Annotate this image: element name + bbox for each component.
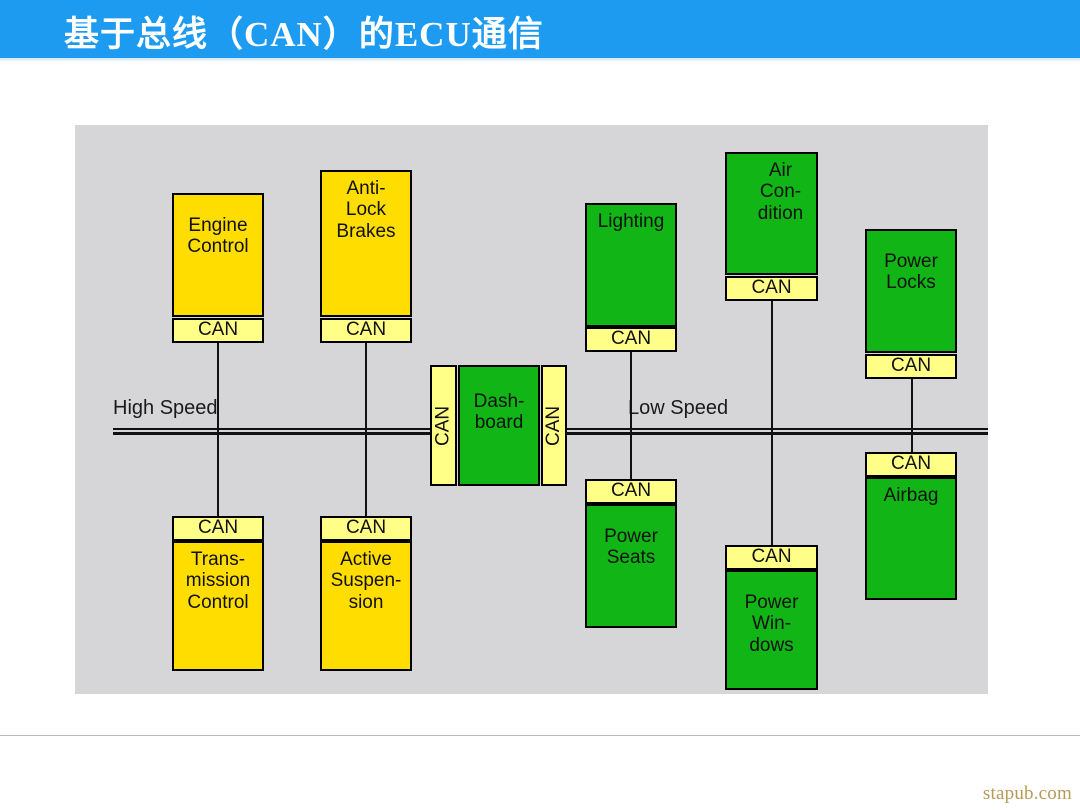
stub-airbag <box>911 430 913 452</box>
node-active-suspension-label: Active Suspen- sion <box>322 543 410 613</box>
node-power-windows-label: Power Win- dows <box>727 572 816 656</box>
node-air-condition-label: Air Con- dition <box>727 154 816 224</box>
can-connector-air-condition[interactable]: CAN <box>725 276 818 301</box>
stub-lighting <box>630 352 632 428</box>
can-connector-anti-lock-brakes[interactable]: CAN <box>320 318 412 343</box>
high-speed-bus-line <box>113 426 435 435</box>
stub-power-locks <box>911 379 913 428</box>
high-speed-bus-label: High Speed <box>113 397 218 420</box>
node-airbag-label: Airbag <box>867 479 955 506</box>
stub-anti-lock-brakes <box>365 343 367 428</box>
node-lighting[interactable]: Lighting <box>585 203 677 327</box>
can-connector-dashboard-right[interactable]: CAN <box>541 365 567 486</box>
node-airbag[interactable]: Airbag <box>865 477 957 600</box>
can-connector-dashboard-left[interactable]: CAN <box>430 365 457 486</box>
low-speed-bus-label: Low Speed <box>628 397 728 420</box>
stub-air-condition <box>771 301 773 428</box>
node-power-locks[interactable]: Power Locks <box>865 229 957 353</box>
bus-inner-gap <box>113 430 435 432</box>
page-title: 基于总线（CAN）的ECU通信 <box>64 6 544 57</box>
footer-divider <box>0 735 1080 736</box>
node-transmission-control-label: Trans- mission Control <box>174 543 262 613</box>
node-power-seats-label: Power Seats <box>587 506 675 569</box>
stub-power-windows <box>771 430 773 545</box>
title-bar: 基于总线（CAN）的ECU通信 <box>0 0 1080 58</box>
node-power-locks-label: Power Locks <box>867 231 955 294</box>
stub-transmission-control <box>217 430 219 516</box>
can-connector-power-windows[interactable]: CAN <box>725 545 818 570</box>
stub-engine-control <box>217 343 219 428</box>
node-dashboard-label: Dash- board <box>460 367 538 434</box>
can-connector-power-locks[interactable]: CAN <box>865 354 957 379</box>
stub-active-suspension <box>365 430 367 516</box>
can-connector-lighting[interactable]: CAN <box>585 327 677 352</box>
watermark: stapub.com <box>983 783 1072 805</box>
node-power-seats[interactable]: Power Seats <box>585 504 677 628</box>
node-anti-lock-brakes[interactable]: Anti- Lock Brakes <box>320 170 412 317</box>
node-anti-lock-brakes-label: Anti- Lock Brakes <box>322 172 410 242</box>
can-connector-active-suspension[interactable]: CAN <box>320 516 412 541</box>
can-connector-transmission-control[interactable]: CAN <box>172 516 264 541</box>
node-transmission-control[interactable]: Trans- mission Control <box>172 541 264 671</box>
node-lighting-label: Lighting <box>587 205 675 232</box>
node-engine-control[interactable]: Engine Control <box>172 193 264 317</box>
node-engine-control-label: Engine Control <box>174 195 262 258</box>
node-dashboard[interactable]: Dash- board <box>458 365 540 486</box>
can-bus-diagram: High Speed Low Speed Engine Control CAN … <box>75 125 988 694</box>
stub-power-seats <box>630 430 632 479</box>
title-underglow <box>0 58 1080 62</box>
node-active-suspension[interactable]: Active Suspen- sion <box>320 541 412 671</box>
node-power-windows[interactable]: Power Win- dows <box>725 570 818 690</box>
can-connector-engine-control[interactable]: CAN <box>172 318 264 343</box>
can-connector-airbag[interactable]: CAN <box>865 452 957 477</box>
node-dashboard-group: CAN Dash- board CAN <box>430 365 567 486</box>
can-connector-power-seats[interactable]: CAN <box>585 479 677 504</box>
node-air-condition[interactable]: Air Con- dition <box>725 152 818 275</box>
